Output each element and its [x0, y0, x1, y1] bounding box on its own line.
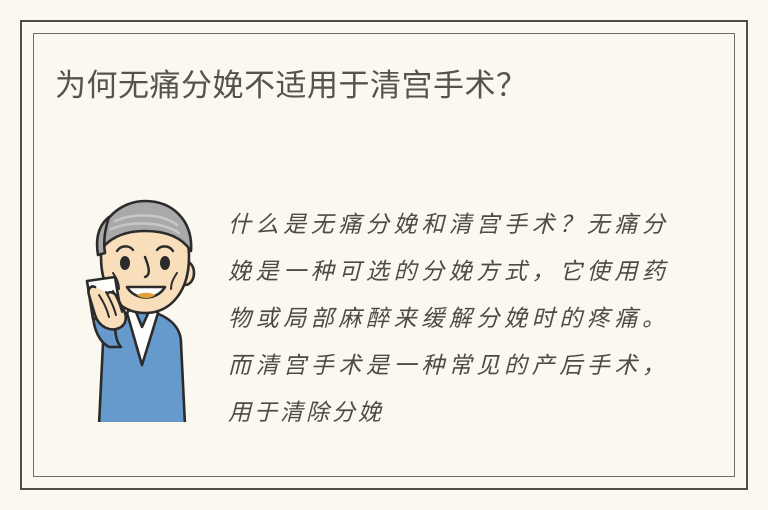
page-title: 为何无痛分娩不适用于清宫手术？	[55, 62, 675, 110]
eye-right	[160, 256, 170, 270]
article-body: 什么是无痛分娩和清宫手术？无痛分娩是一种可选的分娩方式，它使用药物或局部麻醉来缓…	[228, 201, 668, 422]
article-content: 什么是无痛分娩和清宫手术？无痛分娩是一种可选的分娩方式，它使用药物或局部麻醉来缓…	[34, 195, 734, 422]
eye-left	[120, 256, 130, 270]
illustration-elderly-man	[65, 195, 220, 422]
article-page: 为何无痛分娩不适用于清宫手术？	[0, 0, 768, 510]
